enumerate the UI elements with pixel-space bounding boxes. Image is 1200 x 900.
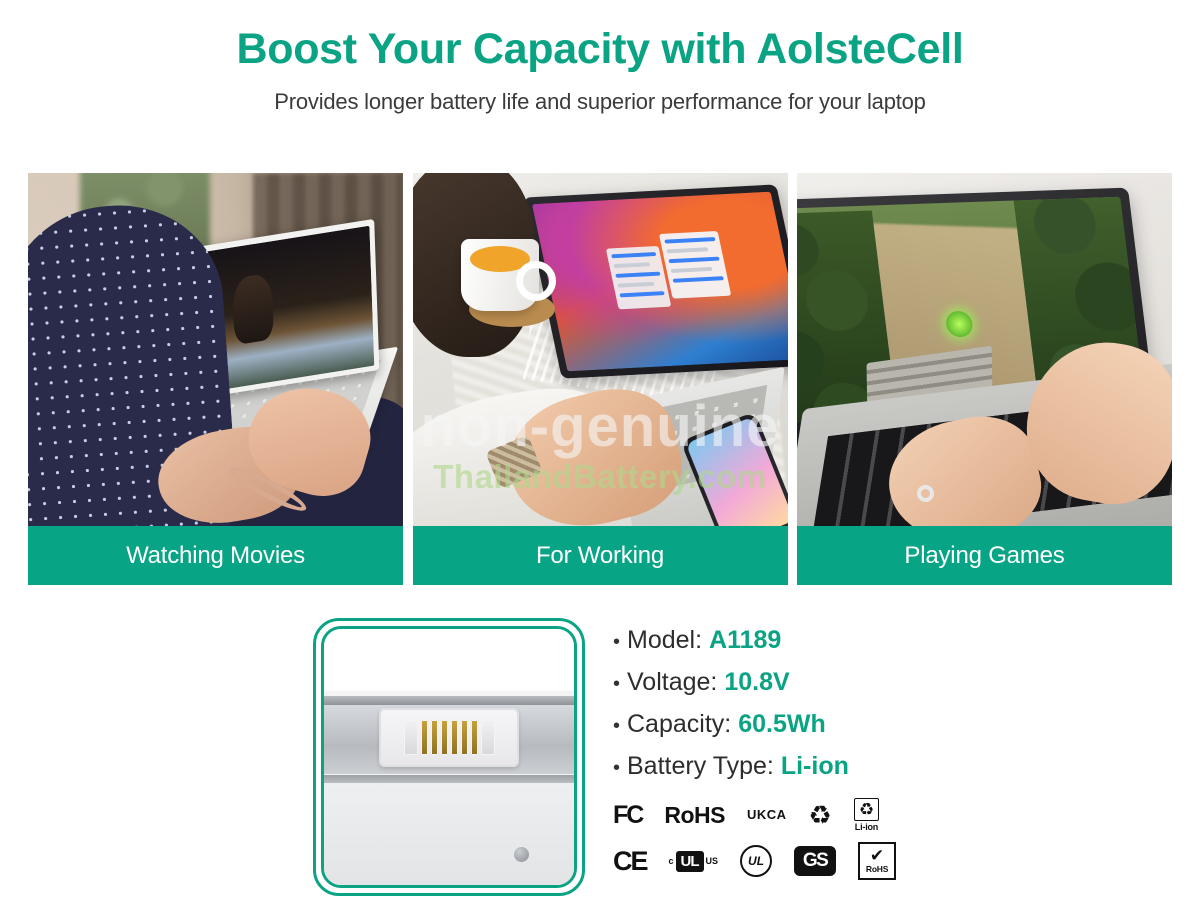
spec-label: Voltage: <box>627 668 717 697</box>
spec-row-model: • Model: A1189 <box>613 626 1033 655</box>
recycle-icon: ♻ <box>809 802 832 828</box>
spec-label: Capacity: <box>627 710 731 739</box>
spec-value: 60.5Wh <box>738 710 826 739</box>
bullet-icon: • <box>613 632 627 652</box>
battery-connector <box>379 708 519 767</box>
connector-end-right <box>481 720 495 755</box>
laptop-screen <box>523 184 788 378</box>
ukca-icon: UK CA <box>747 809 787 821</box>
spec-value: 10.8V <box>724 668 789 697</box>
spec-label: Battery Type: <box>627 752 774 781</box>
connector-end-left <box>404 720 418 755</box>
use-case-card-list: Watching Movies <box>28 173 1172 585</box>
battery-photo <box>324 629 574 885</box>
use-case-card-watching-movies: Watching Movies <box>28 173 403 585</box>
cul-us-icon: c UL US <box>669 851 719 872</box>
cul-suffix: US <box>706 856 719 866</box>
spec-label: Model: <box>627 626 702 655</box>
ukca-line-1: UK <box>747 809 767 821</box>
ukca-line-2: CA <box>767 809 787 821</box>
certification-row-1: FC RoHS UK CA ♻ ♻ Li-ion <box>613 792 933 838</box>
battery-screw <box>514 847 529 862</box>
spec-row-capacity: • Capacity: 60.5Wh <box>613 710 1033 739</box>
page-title: Boost Your Capacity with AolsteCell <box>0 26 1200 73</box>
bullet-icon: • <box>613 716 627 736</box>
spec-value: A1189 <box>709 626 781 655</box>
rohs-check-icon: ✔ RoHS <box>858 842 896 880</box>
photo-watching-movies <box>28 173 403 526</box>
connector-contact <box>421 720 428 755</box>
card-caption-playing-games: Playing Games <box>797 526 1172 585</box>
ul-icon: UL <box>740 845 772 877</box>
card-caption-watching-movies: Watching Movies <box>28 526 403 585</box>
product-detail-section: • Model: A1189 • Voltage: 10.8V • Capaci… <box>0 612 1200 900</box>
spec-value: Li-ion <box>781 752 849 781</box>
connector-contact <box>461 720 468 755</box>
fcc-icon: FC <box>613 801 642 830</box>
page-subtitle: Provides longer battery life and superio… <box>0 89 1200 115</box>
rohs-check-label: RoHS <box>866 864 888 874</box>
bullet-icon: • <box>613 758 627 778</box>
use-case-card-playing-games: Playing Games <box>797 173 1172 585</box>
check-glyph: ✔ <box>870 848 884 863</box>
rohs-icon: RoHS <box>664 802 725 829</box>
product-banner: Boost Your Capacity with AolsteCell Prov… <box>0 0 1200 900</box>
spec-list: • Model: A1189 • Voltage: 10.8V • Capaci… <box>613 626 1033 794</box>
photo-playing-games <box>797 173 1172 526</box>
liion-recycle-glyph: ♻ <box>854 798 879 821</box>
ce-icon: CE <box>613 846 647 877</box>
photo-for-working <box>413 173 788 526</box>
battery-bottom-shell <box>324 783 574 885</box>
connector-contact <box>441 720 448 755</box>
connector-contact <box>451 720 458 755</box>
cul-mark: UL <box>676 851 704 872</box>
cul-prefix: c <box>669 856 674 866</box>
header: Boost Your Capacity with AolsteCell Prov… <box>0 0 1200 115</box>
liion-recycle-icon: ♻ Li-ion <box>854 798 879 832</box>
connector-contact <box>471 720 478 755</box>
use-case-card-for-working: For Working <box>413 173 788 585</box>
battery-top-edge <box>324 696 574 705</box>
spec-row-battery-type: • Battery Type: Li-ion <box>613 752 1033 781</box>
spec-row-voltage: • Voltage: 10.8V <box>613 668 1033 697</box>
tea-mug <box>461 239 539 311</box>
card-caption-for-working: For Working <box>413 526 788 585</box>
battery-image-frame-inner <box>321 626 577 888</box>
battery-image-frame <box>313 618 585 896</box>
liion-recycle-label: Li-ion <box>855 822 878 832</box>
certification-badges: FC RoHS UK CA ♻ ♻ Li-ion CE c UL US <box>613 792 933 884</box>
connector-contact <box>431 720 438 755</box>
bullet-icon: • <box>613 674 627 694</box>
gs-icon: GS <box>794 846 836 876</box>
certification-row-2: CE c UL US UL GS ✔ RoHS <box>613 838 933 884</box>
